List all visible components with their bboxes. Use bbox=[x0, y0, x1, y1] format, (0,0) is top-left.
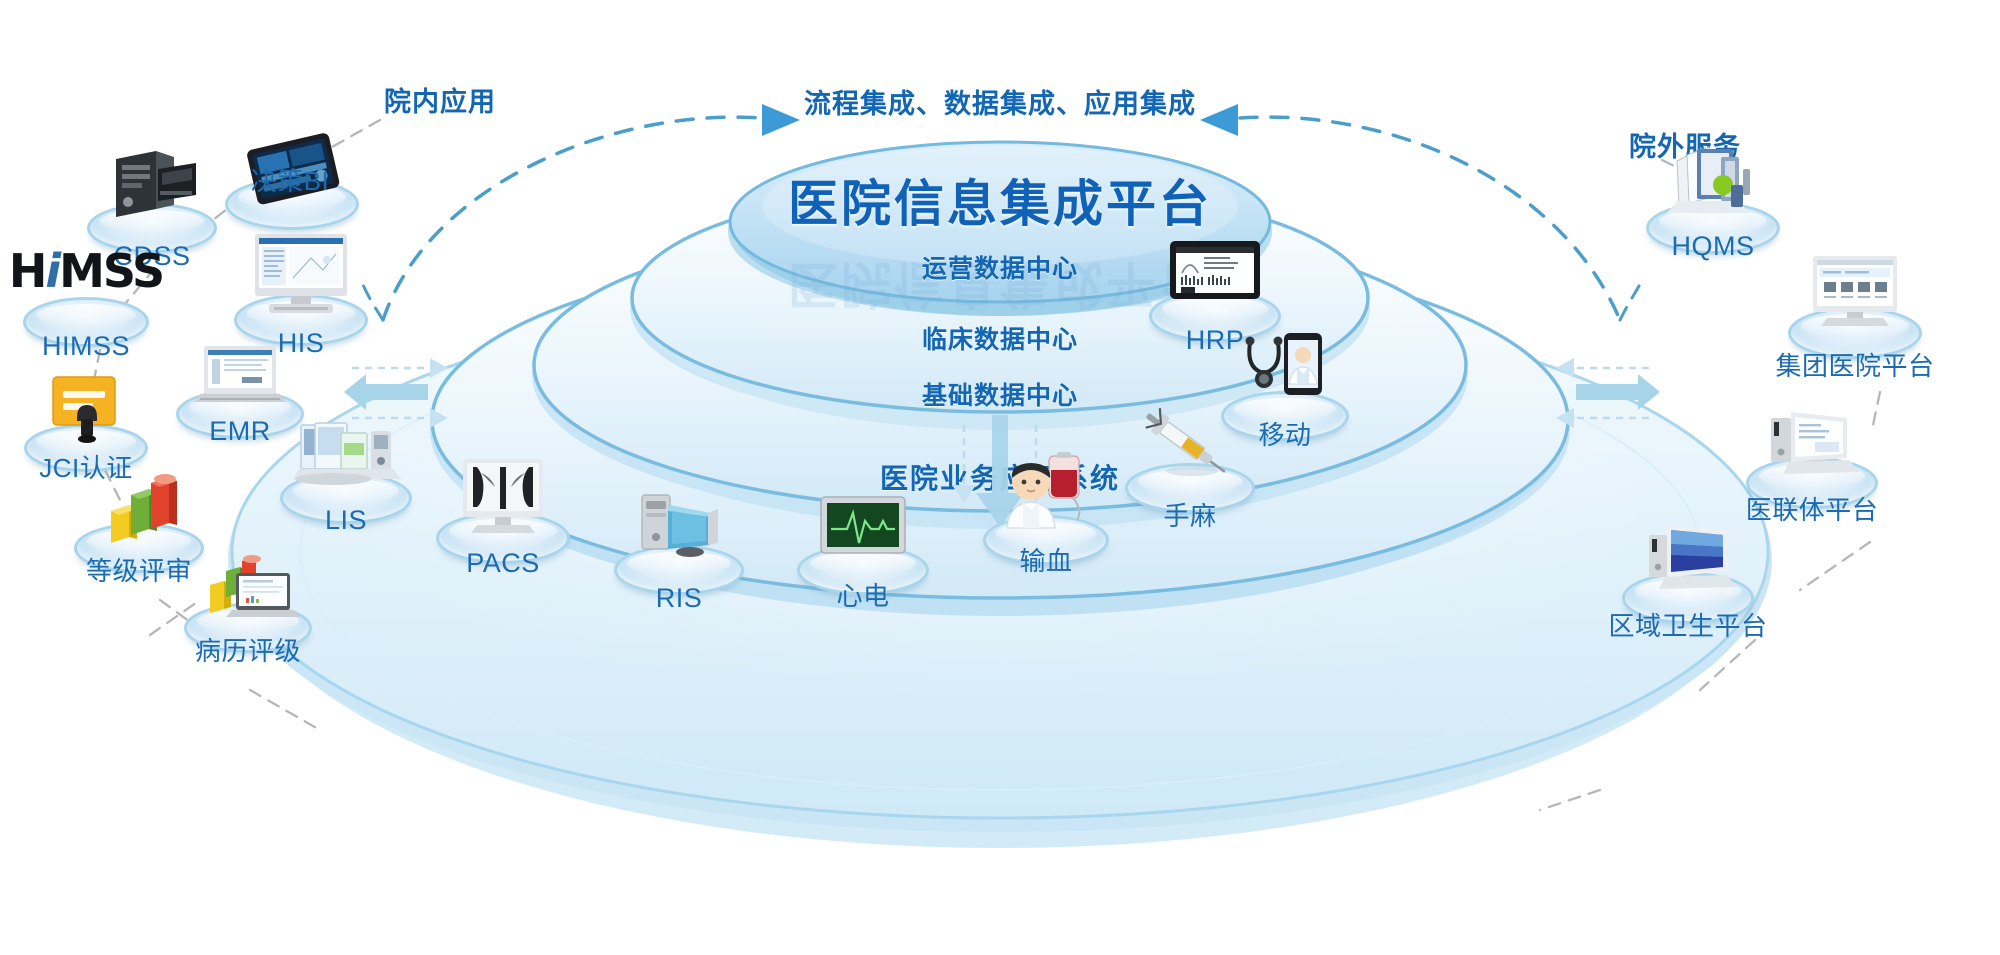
node-label-mobile: 移动 bbox=[1258, 422, 1311, 448]
laptop-icon bbox=[184, 340, 296, 414]
node-ecg[interactable] bbox=[768, 485, 958, 595]
blue-monitor-pc-icon bbox=[1631, 517, 1745, 595]
node-label-ris: RIS bbox=[656, 585, 703, 612]
header-inside-apps: 院内应用 bbox=[384, 80, 496, 119]
header-integration: 流程集成、数据集成、应用集成 bbox=[804, 82, 1196, 121]
layer-label-clinical: 临床数据中心 bbox=[922, 320, 1078, 356]
node-label-group-hospital-platform: 集团医院平台 bbox=[1775, 353, 1934, 379]
monitor-portal-icon bbox=[1797, 250, 1913, 330]
stethoscope-phone-icon bbox=[1226, 329, 1344, 413]
layer-label-operational: 运营数据中心 bbox=[922, 249, 1078, 285]
certificate-seal-icon bbox=[31, 369, 141, 447]
tablet-dashboard-icon bbox=[1156, 233, 1274, 313]
layer-label-basic: 基础数据中心 bbox=[922, 376, 1078, 412]
arrow-right-icon bbox=[762, 104, 800, 136]
xray-monitor-icon bbox=[447, 453, 559, 537]
desktop-monitor-icon bbox=[241, 228, 361, 320]
ecg-monitor-icon bbox=[809, 491, 917, 563]
arrow-left-icon bbox=[1200, 104, 1238, 136]
node-regional-platform[interactable] bbox=[1588, 515, 1788, 625]
laptop-chart-icon bbox=[188, 547, 308, 627]
hrp-feeder-line bbox=[1620, 284, 1640, 320]
node-label-decision-bi: 决策BI bbox=[251, 168, 330, 194]
bar-chart-3d-icon bbox=[83, 467, 195, 547]
blood-bag-doctor-icon bbox=[987, 448, 1105, 534]
node-label-blood-transfusion: 输血 bbox=[1019, 548, 1072, 574]
tower-pc-icon bbox=[622, 487, 736, 567]
node-label-ecg: 心电 bbox=[836, 583, 889, 609]
platform-title: 医院信息集成平台 bbox=[788, 164, 1212, 236]
node-group-hospital-platform[interactable] bbox=[1755, 250, 1955, 360]
node-alliance-platform[interactable] bbox=[1712, 400, 1912, 510]
diagram-canvas: 院内应用 流程集成、数据集成、应用集成 院外服务 医院信息集成平台 医院信息集成… bbox=[0, 0, 2000, 955]
node-pacs[interactable] bbox=[408, 453, 598, 563]
server-rack-icon bbox=[92, 147, 212, 227]
double-arrow-exchange-icon-right bbox=[1548, 352, 1668, 432]
documents-folder-icon bbox=[1653, 141, 1773, 225]
node-label-himss: HIMSS bbox=[42, 333, 130, 360]
node-label-pacs: PACS bbox=[466, 550, 540, 577]
lab-analyzer-icon bbox=[285, 417, 407, 497]
node-label-lis: LIS bbox=[325, 507, 367, 534]
monitor-pc-icon bbox=[1755, 402, 1869, 480]
node-label-regional-platform: 区域卫生平台 bbox=[1608, 613, 1767, 639]
node-label-hqms: HQMS bbox=[1672, 233, 1755, 260]
node-ris[interactable] bbox=[584, 485, 774, 595]
himss-logo-icon: HiMSS bbox=[9, 244, 163, 298]
node-label-anesthesia: 手麻 bbox=[1163, 503, 1216, 529]
node-label-record-rating: 病历评级 bbox=[195, 638, 301, 664]
